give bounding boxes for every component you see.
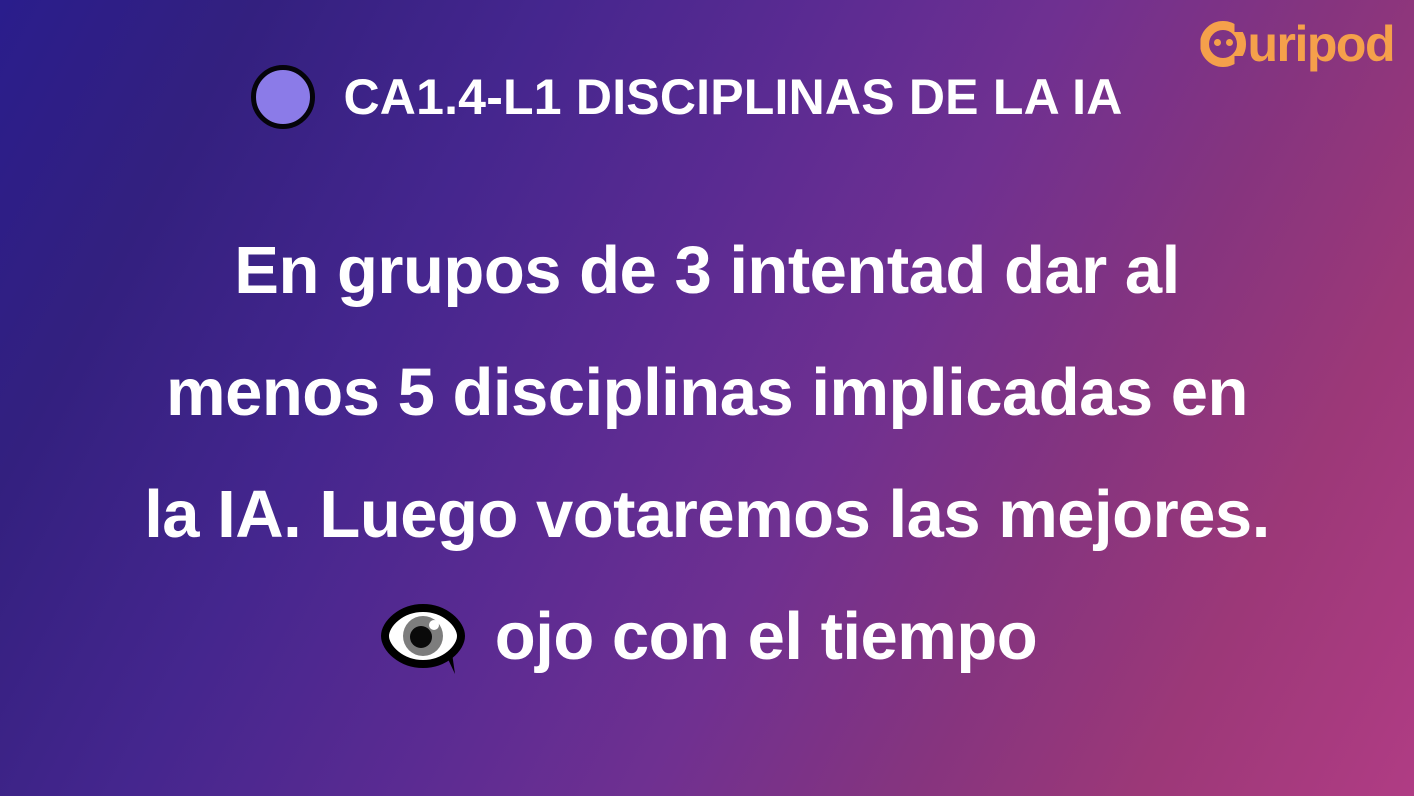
body-line: ojo con el tiempo (40, 576, 1374, 698)
body-line-text: ojo con el tiempo (495, 576, 1037, 698)
curipod-c-ring (1200, 21, 1246, 67)
curipod-logo[interactable]: uripod (1200, 16, 1394, 72)
eye-in-speech-bubble-icon (377, 598, 469, 676)
body-line: En grupos de 3 intentad dar al (40, 210, 1374, 332)
page-title: CA1.4-L1 DISCIPLINAS DE LA IA (343, 72, 1122, 122)
curipod-c-icon (1200, 21, 1246, 67)
body-line: menos 5 disciplinas implicadas en (40, 332, 1374, 454)
filled-circle-icon (251, 65, 315, 129)
presentation-slide: CA1.4-L1 DISCIPLINAS DE LA IA uripod En … (0, 0, 1414, 796)
body-line: la IA. Luego votaremos las mejores. (40, 454, 1374, 576)
curipod-wordmark: uripod (1247, 19, 1394, 69)
slide-body: En grupos de 3 intentad dar al menos 5 d… (0, 210, 1414, 698)
